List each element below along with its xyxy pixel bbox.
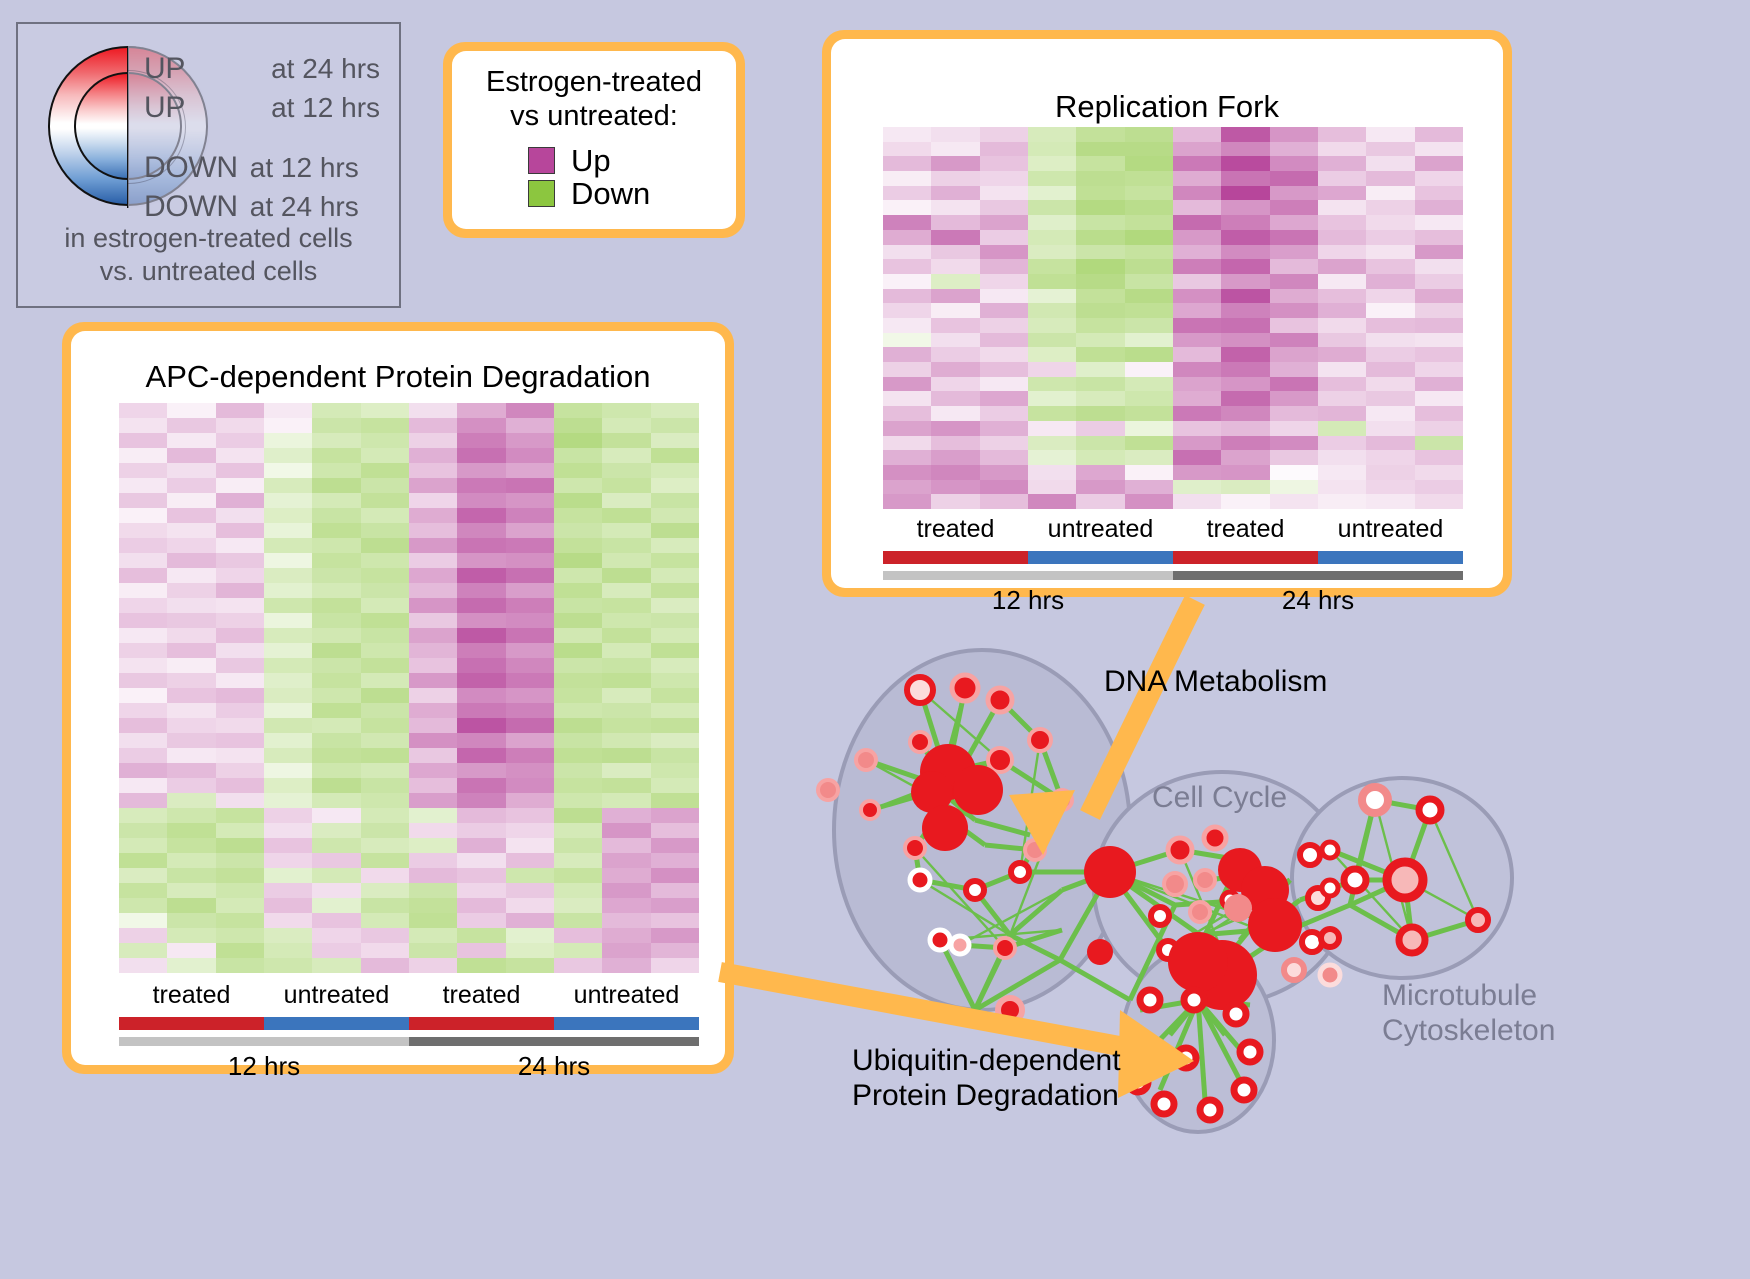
network-node (910, 870, 930, 890)
network-node (930, 930, 950, 950)
network-node (1029, 729, 1051, 751)
network-node (988, 688, 1012, 712)
network-node (1468, 910, 1488, 930)
network-node (952, 675, 978, 701)
network-node (1320, 965, 1340, 985)
figure-canvas: UP at 24 hrs UP at 12 hrs DOWN at 12 hrs… (0, 0, 1750, 1279)
network-node (1362, 787, 1388, 813)
network-node (818, 780, 838, 800)
cluster-halo-dna-metabolism (834, 650, 1130, 1010)
network-node (1419, 799, 1441, 821)
network-node (1200, 1100, 1220, 1120)
network-node (1190, 902, 1210, 922)
network-node (966, 881, 984, 899)
network-node (951, 936, 969, 954)
network-node-hub (953, 765, 1003, 815)
network-node-hub (1168, 932, 1228, 992)
network-node (1140, 990, 1160, 1010)
network-node-bridge (1084, 846, 1136, 898)
network-node (907, 677, 933, 703)
network-node (1344, 869, 1366, 891)
network-node (1322, 842, 1338, 858)
network-node (1240, 1042, 1260, 1062)
network-node (1184, 990, 1204, 1010)
network-node (1321, 929, 1339, 947)
network-node (1011, 863, 1029, 881)
network-node (1226, 1004, 1246, 1024)
network-node (1087, 939, 1113, 965)
cluster-label-cell-cycle: Cell Cycle (1152, 780, 1287, 815)
cluster-label-microtubule-cytoskeleton: Microtubule Cytoskeleton (1382, 978, 1555, 1049)
network-node-hub (922, 805, 968, 851)
network-node (1195, 870, 1215, 890)
network-node (1322, 880, 1338, 896)
network-node (1284, 960, 1304, 980)
network-node (1204, 827, 1226, 849)
network-node (1234, 1080, 1254, 1100)
network-node (1151, 907, 1169, 925)
network-node (1399, 927, 1425, 953)
network-node-hub (1248, 898, 1302, 952)
network-node (1224, 894, 1252, 922)
network-node (988, 748, 1012, 772)
network-node (1154, 1094, 1174, 1114)
network-node-hub (1387, 862, 1423, 898)
network-node (861, 801, 879, 819)
cluster-label-dna-metabolism: DNA Metabolism (1104, 664, 1327, 699)
network-node (905, 838, 925, 858)
network-node (1168, 838, 1192, 862)
network-node (1164, 873, 1186, 895)
network-node (910, 732, 930, 752)
network-node (1300, 845, 1320, 865)
network-node (856, 750, 876, 770)
network-node (995, 938, 1015, 958)
cluster-label-ubiquitin-dependent-protein-degradation: Ubiquitin-dependent Protein Degradation (852, 1043, 1121, 1114)
